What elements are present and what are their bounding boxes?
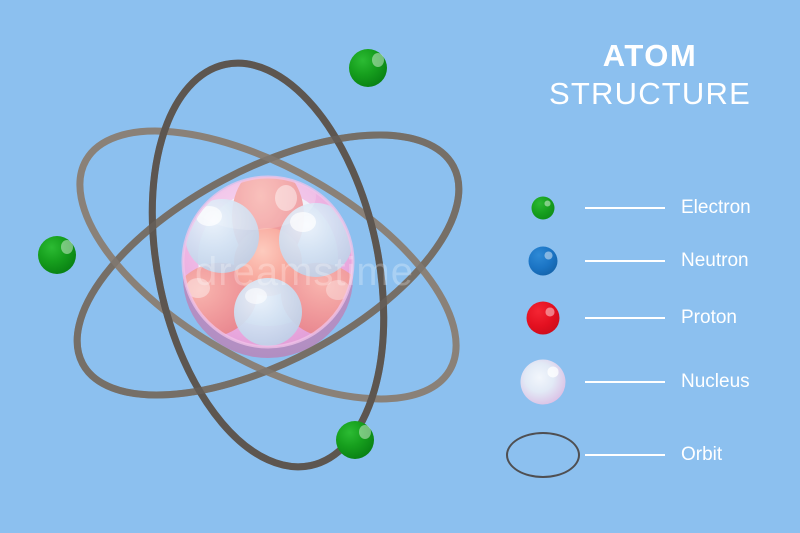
electron-top-highlight <box>372 53 384 67</box>
legend-label-nucleus: Nucleus <box>681 371 750 393</box>
nucleus-sphere-icon <box>520 360 565 405</box>
electron-left-highlight <box>61 240 73 254</box>
atom-svg <box>0 0 500 533</box>
atom-diagram <box>0 0 500 533</box>
legend-icon-cell-electron <box>500 185 585 231</box>
legend-item-nucleus[interactable]: Nucleus <box>500 359 800 405</box>
orbit-ellipse-icon <box>506 432 580 478</box>
electron-sphere-icon <box>531 197 554 220</box>
atom-structure-infographic: ATOM STRUCTURE Electron Neutron Proton <box>0 0 800 533</box>
neutron-sphere-icon <box>528 247 557 276</box>
legend-label-neutron: Neutron <box>681 250 749 272</box>
legend-icon-cell-nucleus <box>500 359 585 405</box>
legend-panel: ATOM STRUCTURE Electron Neutron Proton <box>500 0 800 533</box>
title-sub-line: STRUCTURE <box>500 78 800 111</box>
proton-sphere-icon <box>526 302 559 335</box>
title-main-line: ATOM <box>500 40 800 73</box>
legend-item-neutron[interactable]: Neutron <box>500 238 800 284</box>
legend-item-orbit[interactable]: Orbit <box>500 432 800 478</box>
legend-connector-proton <box>585 317 665 319</box>
neutron-bottom-highlight <box>245 288 267 304</box>
legend-connector-electron <box>585 207 665 209</box>
legend-icon-cell-proton <box>500 295 585 341</box>
legend-icon-cell-orbit <box>500 432 585 478</box>
legend-label-electron: Electron <box>681 197 751 219</box>
legend-connector-neutron <box>585 260 665 262</box>
electron-bottom-highlight <box>359 425 371 439</box>
legend-item-proton[interactable]: Proton <box>500 295 800 341</box>
legend-connector-orbit <box>585 454 665 456</box>
legend-icon-cell-neutron <box>500 238 585 284</box>
legend-label-proton: Proton <box>681 307 737 329</box>
neutron-bottom <box>234 278 302 346</box>
legend-connector-nucleus <box>585 381 665 383</box>
page-title: ATOM STRUCTURE <box>500 40 800 110</box>
legend-item-electron[interactable]: Electron <box>500 185 800 231</box>
legend-label-orbit: Orbit <box>681 444 722 466</box>
